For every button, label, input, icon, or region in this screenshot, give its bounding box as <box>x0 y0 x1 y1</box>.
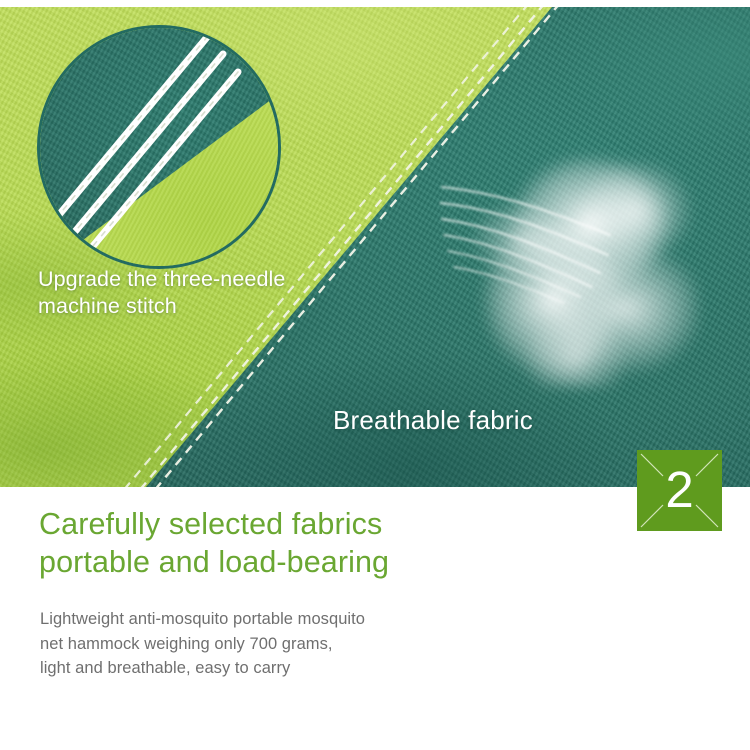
stitch-caption-line1: Upgrade the three-needle <box>38 266 338 293</box>
body-line2: net hammock weighing only 700 grams, <box>40 632 600 657</box>
stitch-caption: Upgrade the three-needle machine stitch <box>38 266 338 320</box>
product-feature-panel: Upgrade the three-needle machine stitch … <box>0 0 750 750</box>
headline-line2: portable and load-bearing <box>39 543 599 581</box>
stitch-caption-line2: machine stitch <box>38 293 338 320</box>
breathable-fabric-caption: Breathable fabric <box>333 403 533 437</box>
stitch-detail-circle <box>37 25 281 269</box>
detail-three-needle-stitches <box>40 28 281 269</box>
product-photo: Upgrade the three-needle machine stitch … <box>0 7 750 487</box>
headline-line1: Carefully selected fabrics <box>39 505 599 543</box>
body-line3: light and breathable, easy to carry <box>40 656 600 681</box>
body-line1: Lightweight anti-mosquito portable mosqu… <box>40 607 600 632</box>
step-number: 2 <box>637 450 722 531</box>
page-title: Carefully selected fabrics portable and … <box>39 505 599 581</box>
step-number-badge: 2 <box>637 450 722 531</box>
product-description: Lightweight anti-mosquito portable mosqu… <box>40 607 600 681</box>
